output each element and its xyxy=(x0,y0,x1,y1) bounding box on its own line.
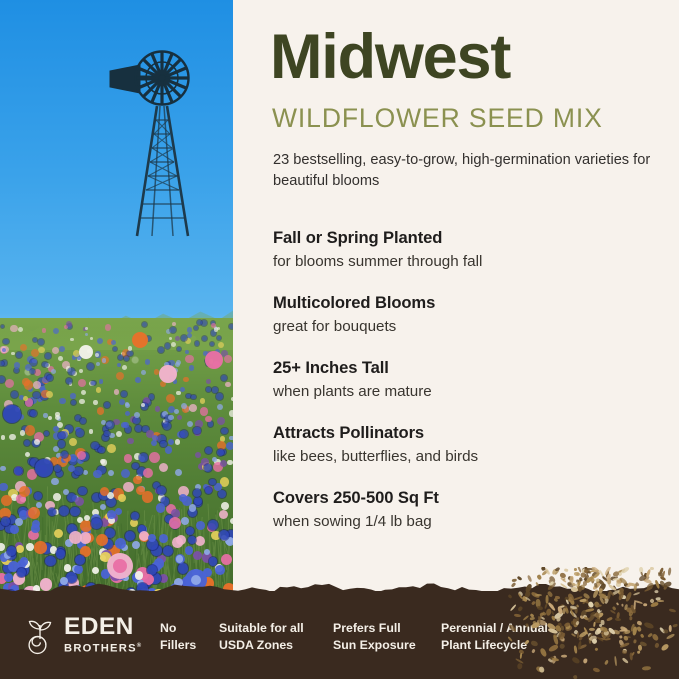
brand-wordmark: EDEN BROTHERS® xyxy=(64,615,142,654)
product-blurb: 23 bestselling, easy-to-grow, high-germi… xyxy=(273,150,665,192)
feature-item: Multicolored Blooms great for bouquets xyxy=(273,293,673,336)
feature-subtitle: for blooms summer through fall xyxy=(273,252,673,272)
feature-title: Attracts Pollinators xyxy=(273,423,673,444)
badge-line2: USDA Zones xyxy=(219,637,304,654)
flower-cluster xyxy=(0,318,233,618)
product-title: Midwest xyxy=(270,26,510,89)
feature-subtitle: when sowing 1/4 lb bag xyxy=(273,512,673,532)
seed-pile xyxy=(507,567,679,679)
brand-name: EDEN xyxy=(64,615,142,640)
badge-sun-exposure: Prefers Full Sun Exposure xyxy=(333,620,416,653)
brand-subname: BROTHERS® xyxy=(64,643,142,655)
info-panel: Midwest WILDFLOWER SEED MIX 23 bestselli… xyxy=(233,0,679,618)
product-marketing-card: Midwest WILDFLOWER SEED MIX 23 bestselli… xyxy=(0,0,679,679)
feature-item: Covers 250-500 Sq Ft when sowing 1/4 lb … xyxy=(273,488,673,531)
footer-bar: EDEN BROTHERS® No Fillers Suitable for a… xyxy=(0,591,679,679)
feature-item: 25+ Inches Tall when plants are mature xyxy=(273,358,673,401)
badge-line2: Sun Exposure xyxy=(333,637,416,654)
feature-title: Covers 250-500 Sq Ft xyxy=(273,488,673,509)
badge-line2: Fillers xyxy=(160,637,196,654)
badge-line1: Suitable for all xyxy=(219,620,304,637)
badge-line1: Prefers Full xyxy=(333,620,416,637)
feature-item: Fall or Spring Planted for blooms summer… xyxy=(273,228,673,271)
badge-no-fillers: No Fillers xyxy=(160,620,196,653)
feature-item: Attracts Pollinators like bees, butterfl… xyxy=(273,423,673,466)
trademark-symbol: ® xyxy=(137,643,143,649)
feature-subtitle: like bees, butterflies, and birds xyxy=(273,447,673,467)
feature-subtitle: when plants are mature xyxy=(273,382,673,402)
feature-title: Multicolored Blooms xyxy=(273,293,673,314)
feature-list: Fall or Spring Planted for blooms summer… xyxy=(273,228,673,553)
sprout-seedling-icon xyxy=(22,617,58,655)
badge-line1: No xyxy=(160,620,196,637)
brand-logo: EDEN BROTHERS® xyxy=(22,615,134,659)
feature-title: 25+ Inches Tall xyxy=(273,358,673,379)
brand-subname-text: BROTHERS xyxy=(64,642,137,654)
badge-usda-zones: Suitable for all USDA Zones xyxy=(219,620,304,653)
feature-title: Fall or Spring Planted xyxy=(273,228,673,249)
product-subtitle: WILDFLOWER SEED MIX xyxy=(272,105,603,132)
feature-subtitle: great for bouquets xyxy=(273,317,673,337)
product-photo xyxy=(0,0,233,618)
